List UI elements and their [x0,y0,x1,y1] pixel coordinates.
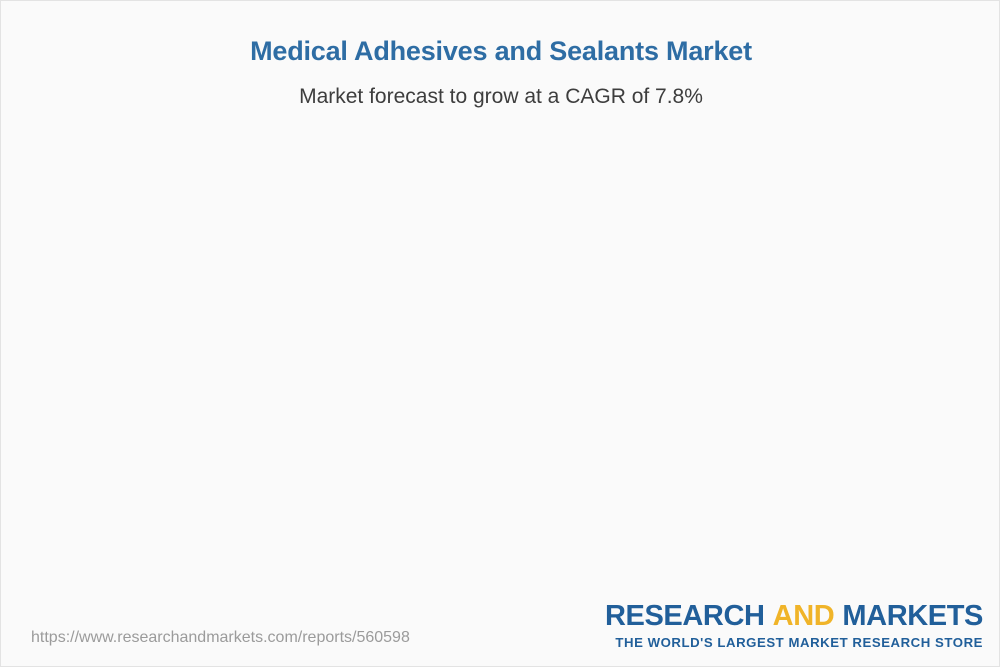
brand-word-research: RESEARCH [605,600,765,632]
brand-wordmark: RESEARCHANDMARKETS [605,600,983,632]
brand-word-markets: MARKETS [842,600,983,632]
footer: https://www.researchandmarkets.com/repor… [1,596,1000,666]
source-url[interactable]: https://www.researchandmarkets.com/repor… [31,628,410,648]
brand-logo: RESEARCHANDMARKETS THE WORLD'S LARGEST M… [605,600,983,652]
brand-tagline: THE WORLD'S LARGEST MARKET RESEARCH STOR… [605,632,983,652]
chart-plot-area: USD 10.2 Billion [1,1,1000,601]
infographic-card: Medical Adhesives and Sealants Market Ma… [0,0,1000,667]
brand-word-and: AND [773,600,835,632]
